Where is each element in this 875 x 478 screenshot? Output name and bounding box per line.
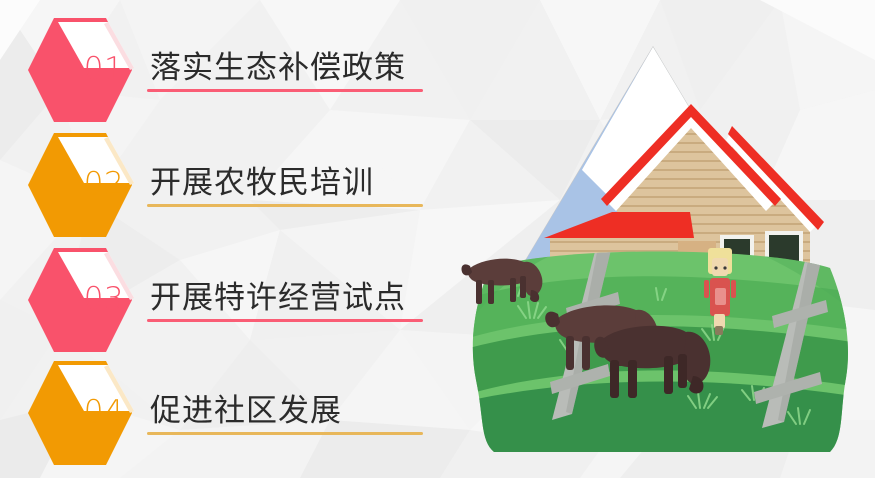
item-label: 开展农牧民培训 — [150, 157, 374, 202]
hexagon-badge: 03 — [22, 242, 138, 358]
item-label: 落实生态补偿政策 — [150, 42, 406, 87]
hexagon-badge: 02 — [22, 127, 138, 243]
item-underline — [147, 89, 423, 92]
item-number: 03 — [78, 282, 130, 316]
item-label: 开展特许经营试点 — [150, 272, 406, 317]
list-item[interactable]: 02 开展农牧民培训 — [0, 127, 460, 243]
hexagon-badge: 04 — [22, 355, 138, 471]
list-item[interactable]: 01 落实生态补偿政策 — [0, 12, 460, 128]
hexagon-badge: 01 — [22, 12, 138, 128]
slide-canvas: 01 落实生态补偿政策 02 开展农牧民培训 — [0, 0, 875, 478]
item-number: 02 — [78, 167, 130, 201]
item-label: 促进社区发展 — [150, 385, 342, 430]
list-item[interactable]: 03 开展特许经营试点 — [0, 242, 460, 358]
item-number: 01 — [78, 52, 130, 86]
pasture-illustration — [432, 0, 875, 478]
item-number: 04 — [78, 395, 130, 429]
numbered-list: 01 落实生态补偿政策 02 开展农牧民培训 — [0, 0, 460, 478]
item-underline — [147, 204, 423, 207]
item-underline — [147, 432, 423, 435]
item-underline — [147, 319, 423, 322]
list-item[interactable]: 04 促进社区发展 — [0, 355, 460, 471]
